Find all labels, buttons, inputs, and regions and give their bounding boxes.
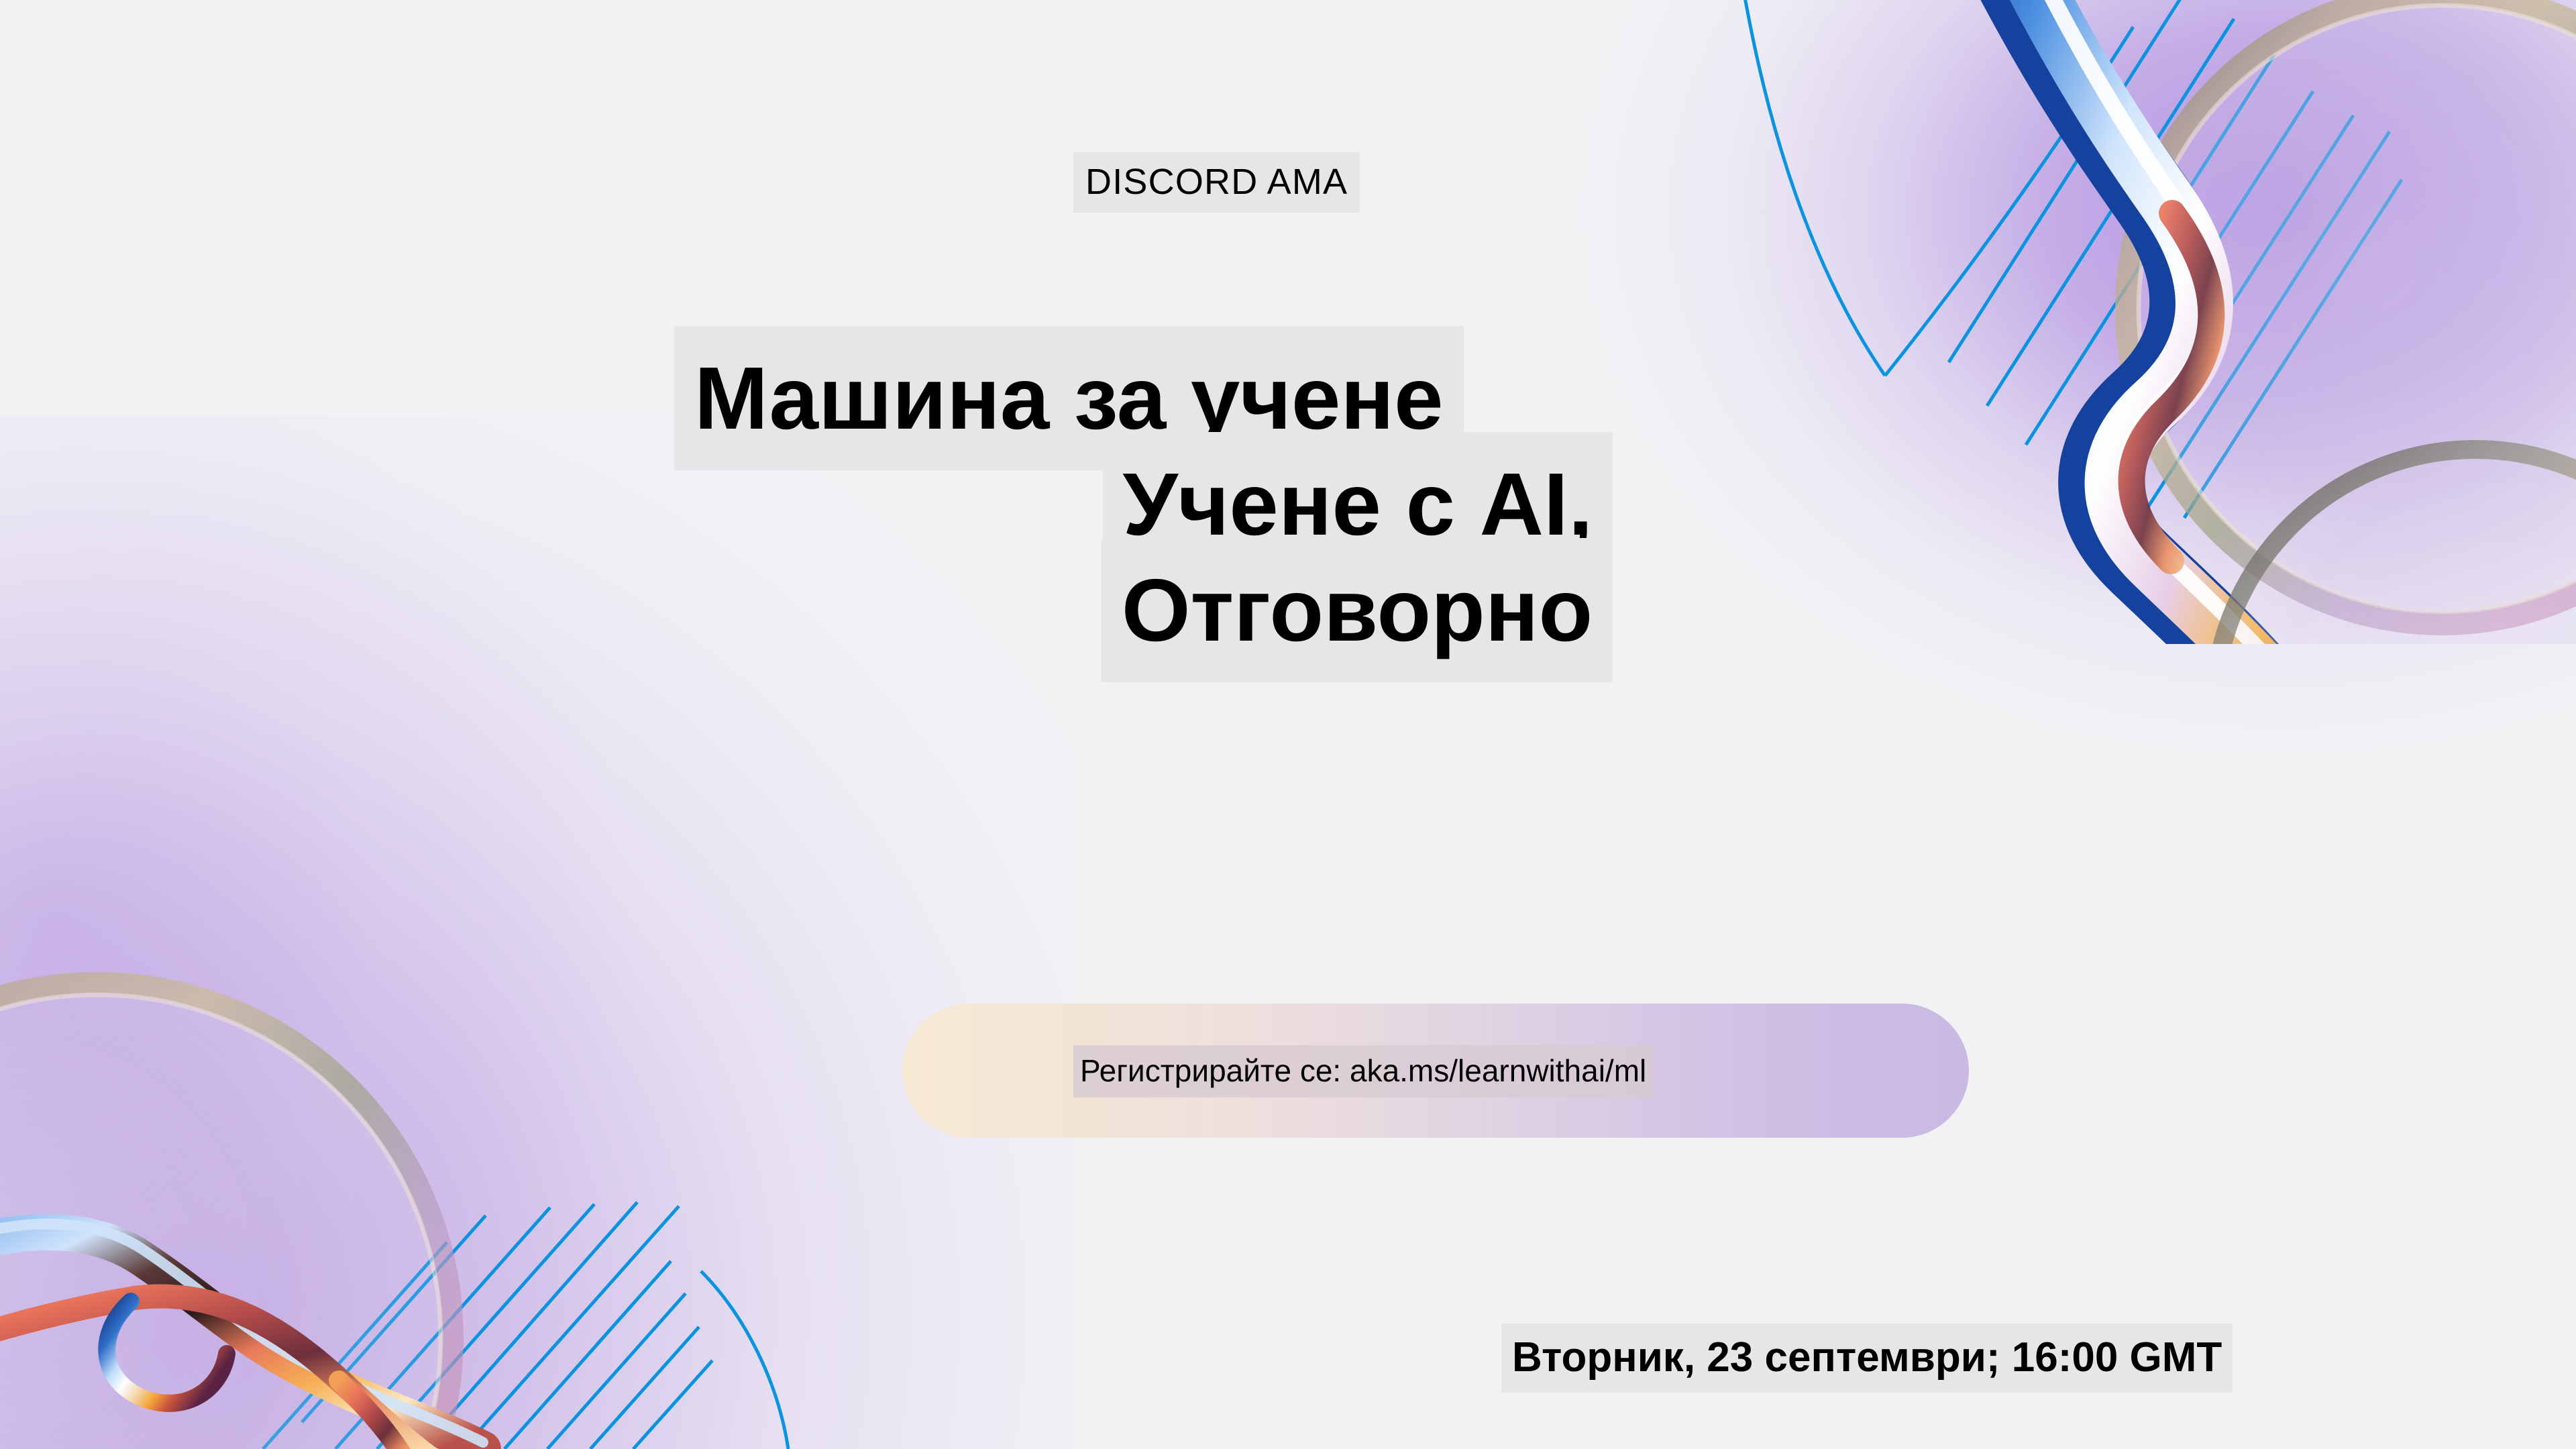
event-date-banner: Вторник, 23 септември; 16:00 GMT xyxy=(1501,1334,2233,1381)
registration-cta-label-wrap: Регистрирайте се: aka.ms/learnwithai/ml xyxy=(1073,1053,1653,1089)
registration-cta-button[interactable]: Регистрирайте се: aka.ms/learnwithai/ml xyxy=(902,1004,1969,1138)
title-line-3-text: Отговорно xyxy=(1102,538,1613,682)
registration-cta-label: Регистрирайте се: aka.ms/learnwithai/ml xyxy=(1073,1045,1653,1097)
eyebrow-discord-ama: DISCORD AMA xyxy=(1073,161,1360,203)
slide-content: DISCORD AMA Машина за учене Учене с AI, … xyxy=(0,0,2576,1449)
title-block: Машина за учене Учене с AI, Отговорно xyxy=(674,349,2016,666)
slide-canvas: DISCORD AMA Машина за учене Учене с AI, … xyxy=(0,0,2576,1449)
event-date-label: Вторник, 23 септември; 16:00 GMT xyxy=(1501,1324,2233,1393)
title-line-3: Отговорно xyxy=(674,561,2016,660)
eyebrow-label: DISCORD AMA xyxy=(1073,152,1360,213)
